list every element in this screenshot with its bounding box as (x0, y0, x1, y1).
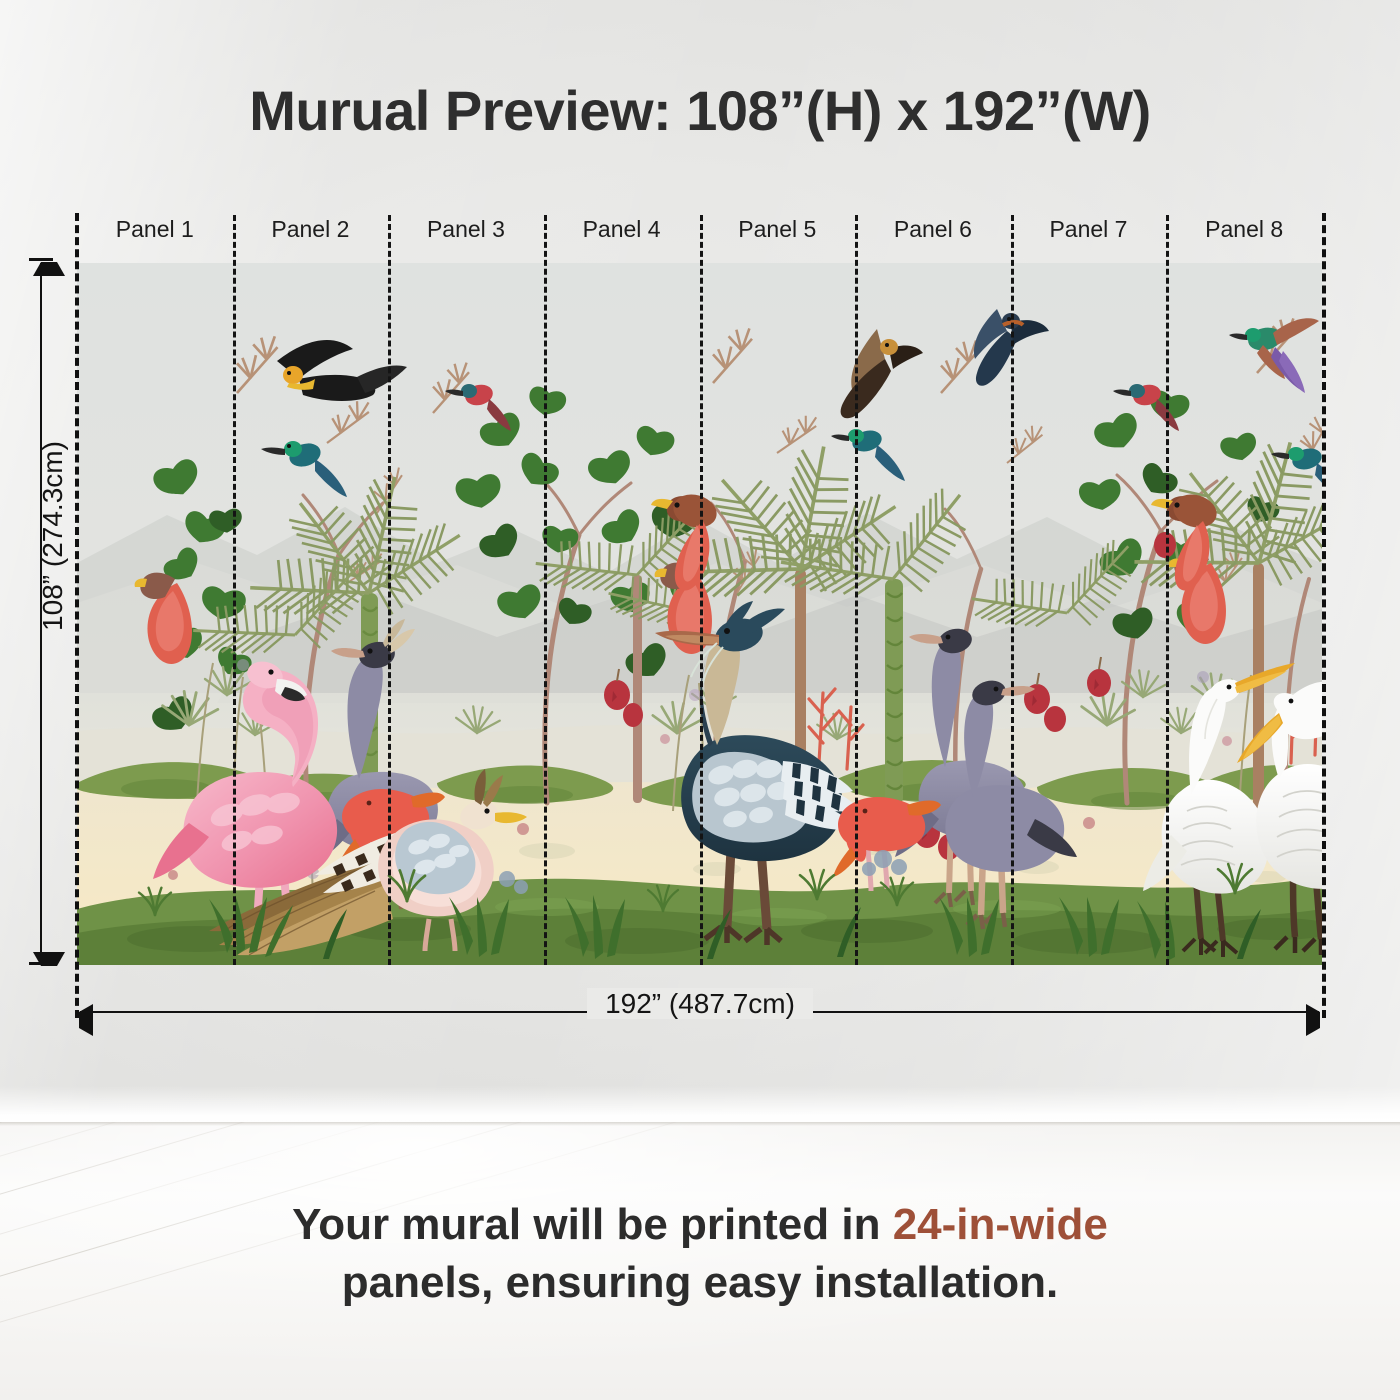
caption-accent-panel-width: 24-in-wide (893, 1200, 1108, 1249)
panel-label-5: Panel 5 (700, 216, 856, 243)
print-info-caption: Your mural will be printed in 24-in-wide… (0, 1196, 1400, 1312)
panel-divider-1 (233, 215, 236, 965)
panel-divider-2 (388, 215, 391, 965)
floor-wall-junction (0, 1122, 1400, 1126)
panel-divider-right-edge (1322, 213, 1326, 1018)
caption-line1-prefix: Your mural will be printed in (292, 1200, 893, 1249)
height-dimension-cap-bottom (29, 962, 53, 965)
width-dimension-label: 192” (487.7cm) (0, 988, 1400, 1020)
caption-line2: panels, ensuring easy installation. (342, 1258, 1058, 1307)
panel-label-3: Panel 3 (388, 216, 544, 243)
wall-base-fade (0, 1086, 1400, 1122)
panel-divider-5 (855, 215, 858, 965)
panel-divider-6 (1011, 215, 1014, 965)
wall-surface: Murual Preview: 108”(H) x 192”(W) Panel … (0, 0, 1400, 1122)
panel-label-8: Panel 8 (1166, 216, 1322, 243)
height-dimension-cap-top (29, 258, 53, 261)
panel-label-7: Panel 7 (1011, 216, 1167, 243)
panel-divider-left-edge (75, 213, 79, 1018)
panel-label-1: Panel 1 (77, 216, 233, 243)
panel-label-6: Panel 6 (855, 216, 1011, 243)
panel-label-2: Panel 2 (233, 216, 389, 243)
panel-divider-7 (1166, 215, 1169, 965)
height-dimension-label: 108” (274.3cm) (37, 376, 69, 696)
width-dimension-label-text: 192” (487.7cm) (587, 988, 813, 1019)
panel-label-4: Panel 4 (544, 216, 700, 243)
panel-divider-4 (700, 215, 703, 965)
panel-divider-3 (544, 215, 547, 965)
mural-preview-area (77, 263, 1322, 965)
page-title: Murual Preview: 108”(H) x 192”(W) (0, 78, 1400, 143)
